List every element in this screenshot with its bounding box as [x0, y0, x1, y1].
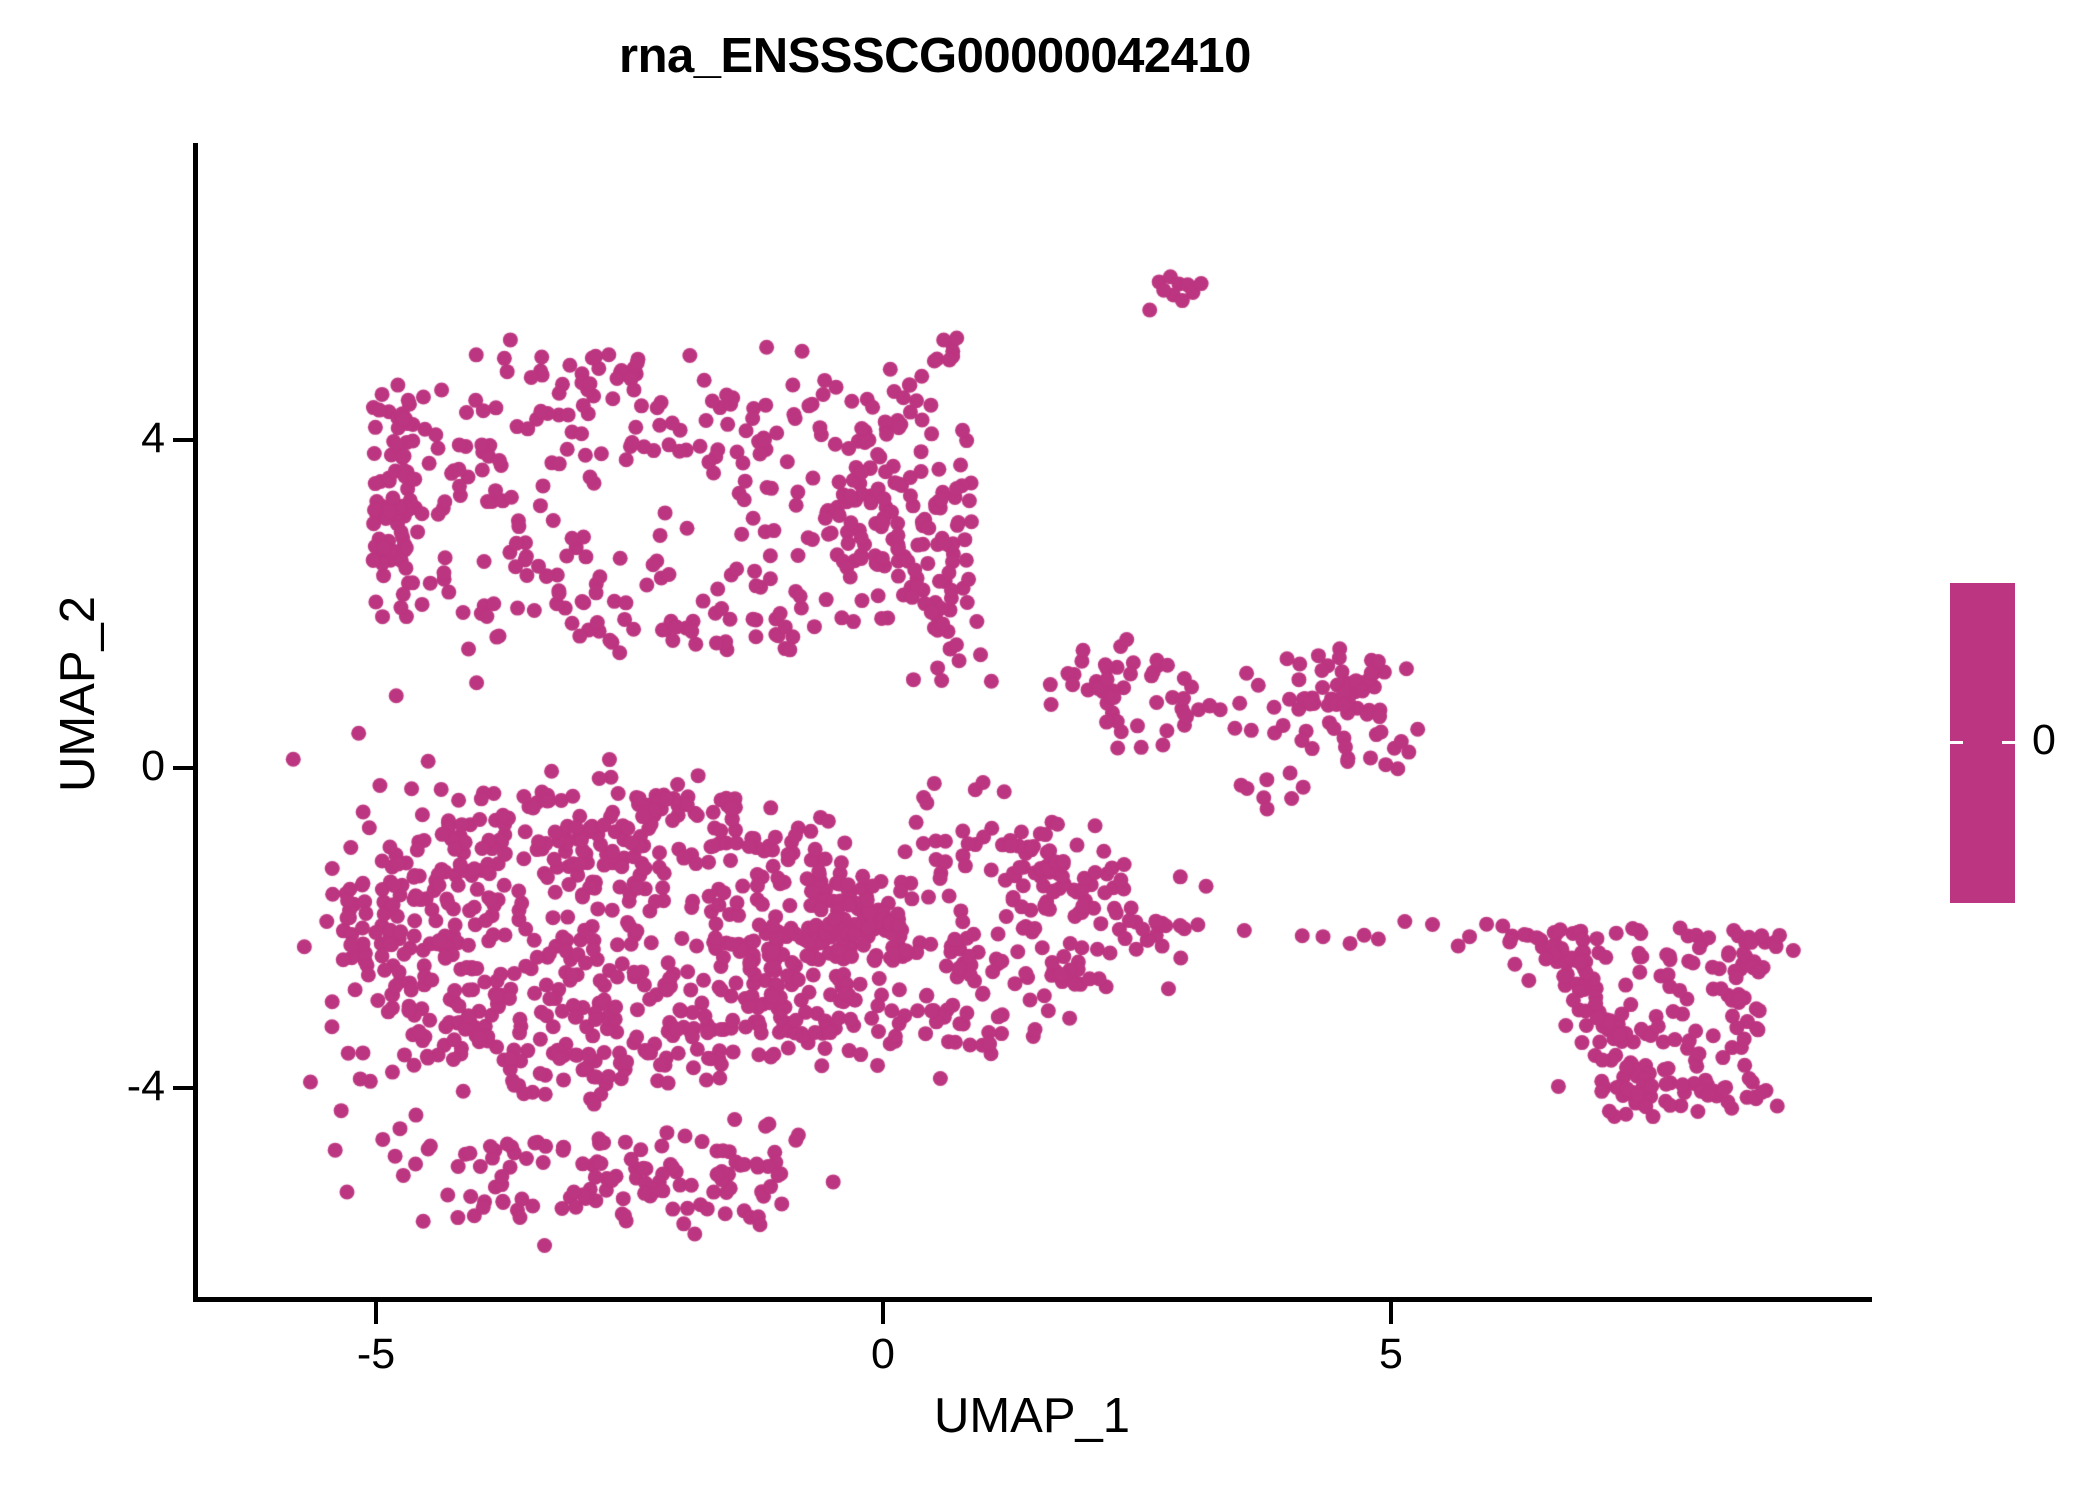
x-axis-title: UMAP_1: [0, 1388, 2064, 1444]
y-axis-title: UMAP_2: [50, 344, 106, 1044]
y-tick-label-neg4: -4: [0, 1062, 165, 1111]
y-tick-mark: [173, 766, 195, 770]
page-title: rna_ENSSSCG00000042410: [0, 28, 1870, 84]
umap-feature-plot: rna_ENSSSCG00000042410 4 0 -4 -5 0 5 UMA…: [0, 0, 2100, 1500]
colorbar-tick-right: [2002, 741, 2015, 744]
y-tick-mark: [173, 1086, 195, 1090]
x-axis-line: [193, 1297, 1872, 1302]
x-tick-label-neg5: -5: [276, 1330, 476, 1379]
y-tick-mark: [173, 438, 195, 442]
plot-panel: [195, 143, 1870, 1300]
x-tick-mark: [1389, 1302, 1393, 1324]
scatter-points-layer: [195, 143, 1870, 1300]
x-tick-label-5: 5: [1291, 1330, 1491, 1379]
y-axis-line: [193, 143, 198, 1302]
x-tick-mark: [881, 1302, 885, 1324]
x-tick-label-0: 0: [783, 1330, 983, 1379]
colorbar-tick-left: [1950, 741, 1963, 744]
legend-colorbar: 0: [1950, 583, 2090, 923]
colorbar-tick-label-0: 0: [2032, 716, 2056, 765]
x-tick-mark: [374, 1302, 378, 1324]
